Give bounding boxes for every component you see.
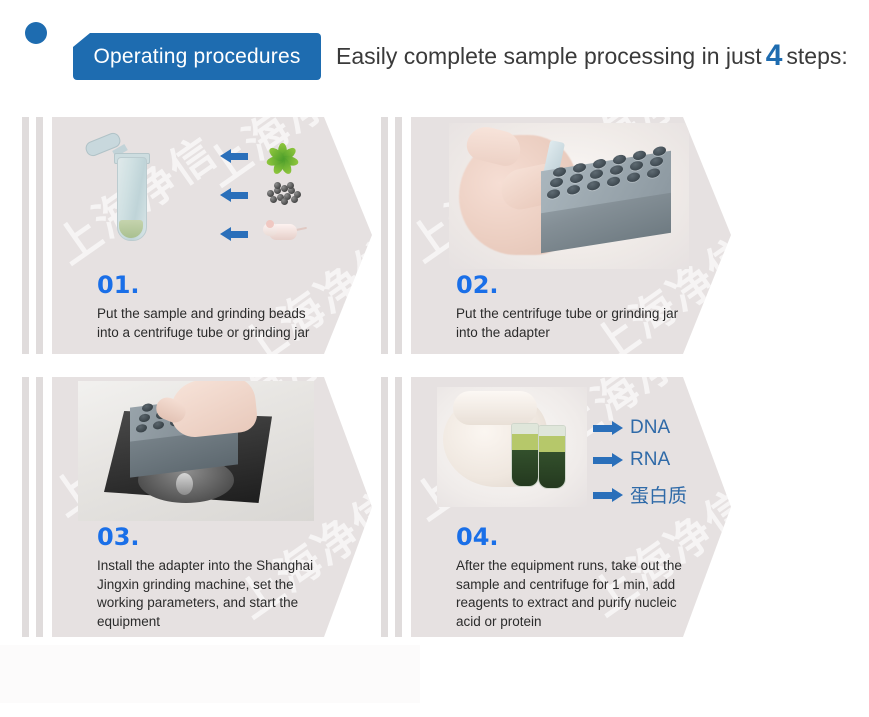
output-label: RNA [630, 449, 670, 471]
operating-procedures-infographic: Operating procedures Easily complete sam… [0, 0, 869, 717]
output-label: DNA [630, 417, 670, 439]
mouse-icon [263, 219, 303, 243]
accent-bar-outer [22, 377, 29, 637]
centrifuge-tube-icon [107, 135, 163, 247]
step-description: Put the sample and grinding beads into a… [97, 305, 309, 342]
step-card-03: 上海净信 上海净信 上海净信 [22, 377, 372, 637]
accent-bar-inner [395, 377, 402, 637]
step-caption: 04. After the equipment runs, take out t… [456, 525, 682, 632]
accent-bar-inner [395, 117, 402, 354]
accent-bar-outer [22, 117, 29, 354]
output-row-dna: DNA [593, 417, 670, 439]
step-number: 04. [456, 525, 682, 549]
step-panel: 上海净信 上海净信 上海净信 [411, 117, 731, 354]
output-row-protein: 蛋白质 [593, 481, 687, 508]
step-description: Install the adapter into the Shanghai Ji… [97, 557, 313, 632]
step-artwork-04 [437, 387, 587, 507]
accent-bar-outer [381, 377, 388, 637]
arrow-right-icon [593, 453, 623, 467]
grinding-beads-icon [265, 181, 301, 205]
step-panel: 上海净信 上海净信 上海净信 [52, 377, 372, 637]
step-card-02: 上海净信 上海净信 上海净信 [381, 117, 731, 354]
sample-tube-photo [511, 423, 539, 487]
output-label: 蛋白质 [630, 481, 687, 508]
step-panel: 上海净信 上海净信 上海净信 [52, 117, 372, 354]
accent-bar-inner [36, 117, 43, 354]
step-caption: 01. Put the sample and grinding beads in… [97, 273, 309, 342]
step-description: Put the centrifuge tube or grinding jar … [456, 305, 678, 342]
step-caption: 02. Put the centrifuge tube or grinding … [456, 273, 678, 342]
sample-tube-photo [538, 425, 566, 489]
step-number: 02. [456, 273, 678, 297]
output-row-rna: RNA [593, 449, 670, 471]
accent-bar-inner [36, 377, 43, 637]
steps-grid: 上海净信 上海净信 上海净信 [0, 0, 869, 717]
step-card-01: 上海净信 上海净信 上海净信 [22, 117, 372, 354]
step-card-04: 上海净信 上海净信 上海净信 [381, 377, 731, 637]
step-artwork-01 [52, 117, 372, 267]
arrow-left-icon [220, 149, 248, 163]
arrow-left-icon [220, 227, 248, 241]
arrow-right-icon [593, 421, 623, 435]
bottom-wash [0, 645, 420, 703]
accent-bar-outer [381, 117, 388, 354]
step-caption: 03. Install the adapter into the Shangha… [97, 525, 313, 632]
step-artwork-03 [78, 381, 314, 521]
arrow-left-icon [220, 188, 248, 202]
leaf-icon [265, 139, 299, 173]
step-number: 01. [97, 273, 309, 297]
step-description: After the equipment runs, take out the s… [456, 557, 682, 632]
step-panel: 上海净信 上海净信 上海净信 [411, 377, 731, 637]
step-number: 03. [97, 525, 313, 549]
arrow-right-icon [593, 488, 623, 502]
step-artwork-02 [449, 123, 689, 269]
